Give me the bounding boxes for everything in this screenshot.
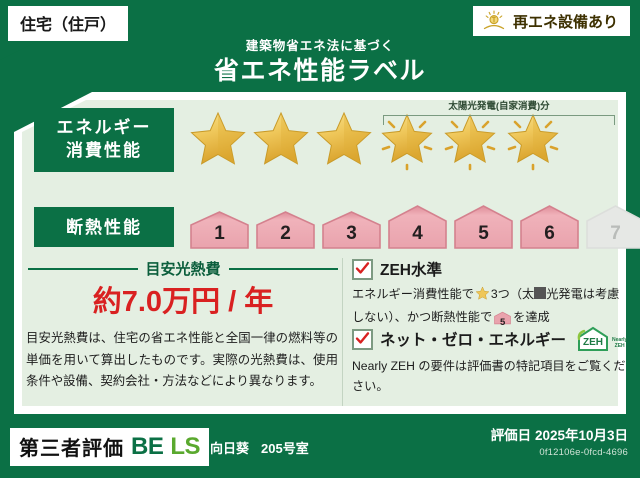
category-tag: 住宅（住戸） — [8, 6, 128, 41]
checkbox-checked-icon — [352, 259, 373, 280]
solar-bracket-line — [383, 115, 615, 125]
zeh-house-logo: ZEH Nearly ZEH — [576, 326, 627, 352]
net-zero-body: Nearly ZEH の要件は評価書の特記項目をご覧ください。 — [352, 357, 628, 397]
building-name: 向日葵 — [210, 438, 249, 457]
grade-number: 2 — [254, 223, 317, 245]
insulation-performance-label: 断熱性能 — [34, 207, 174, 247]
utility-cost-heading-text: 目安光熱費 — [146, 258, 221, 279]
star-icon — [314, 109, 374, 171]
zeh-standard-body: エネルギー消費性能で3つ（太光発電は考慮しない）、かつ断熱性能で5を達成 — [352, 285, 628, 332]
title-main: 省エネ性能ラベル — [0, 58, 640, 86]
grade-number: 5 — [452, 223, 515, 245]
grade-badge-2: 2 — [254, 211, 317, 249]
title-block: 建築物省エネ法に基づく 省エネ性能ラベル — [0, 40, 640, 85]
grade-badge-4: 4 — [386, 205, 449, 249]
bels-logo-box: 第三者評価 BELS — [10, 428, 209, 466]
zeh-body-part4: を達成 — [513, 310, 550, 324]
solar-bracket-label: 太陽光発電(自家消費)分 — [383, 102, 615, 112]
grade-number: 1 — [188, 223, 251, 245]
grade-badge-5: 5 — [452, 205, 515, 249]
grade-badge-7-inactive: 7 — [584, 205, 640, 249]
net-zero-heading: ネット・ゼロ・エネルギー ZEH Nearly ZEH — [352, 326, 628, 352]
rule-right — [229, 268, 339, 270]
insulation-performance-row: 断熱性能 1 2 3 4 5 6 7 — [34, 205, 640, 249]
bels-jp-label: 第三者評価 — [19, 432, 124, 461]
zeh-body-part1: エネルギー消費性能で — [352, 287, 474, 301]
energy-performance-label-line2: 消費性能 — [34, 140, 174, 163]
bels-logo-ls: LS — [170, 433, 200, 461]
grade-number: 3 — [320, 223, 383, 245]
utility-cost-note: 目安光熱費は、住宅の省エネ性能と全国一律の燃料等の単価を用いて算出したものです。… — [26, 328, 338, 393]
grade-badge-3: 3 — [320, 211, 383, 249]
grade-number: 4 — [386, 223, 449, 245]
column-divider — [342, 258, 343, 406]
insulation-label-text: 断熱性能 — [34, 219, 174, 236]
zeh-body-star-count: 3つ — [491, 287, 510, 301]
zeh-body-part2: （太 — [510, 287, 534, 301]
net-zero-title: ネット・ゼロ・エネルギー — [380, 328, 566, 350]
grade-badge-6: 6 — [518, 205, 581, 249]
evaluation-info: 評価日 2025年10月3日 0f12106e-0fcd-4696 — [491, 428, 628, 458]
grade-badge-1: 1 — [188, 211, 251, 249]
building-identity: 向日葵 205号室 — [210, 438, 309, 457]
rule-left — [28, 268, 138, 270]
evaluation-date: 評価日 2025年10月3日 — [491, 428, 628, 444]
energy-performance-label-line1: エネルギー — [34, 117, 174, 140]
utility-cost-heading: 目安光熱費 — [28, 258, 338, 279]
grade-number: 7 — [584, 223, 640, 245]
renewable-badge-label: 再エネ設備あり — [513, 11, 618, 32]
title-subtitle: 建築物省エネ法に基づく — [0, 40, 640, 53]
renewable-equipment-badge: 再エネ設備あり — [473, 6, 630, 36]
solar-generation-bracket: 太陽光発電(自家消費)分 — [383, 102, 615, 125]
inline-star-icon — [475, 286, 490, 308]
bels-logo-be: BE — [131, 433, 163, 461]
zeh-house-icon: ZEH — [576, 326, 610, 352]
star-icon — [188, 109, 248, 171]
zeh-standard-title: ZEH水準 — [380, 258, 442, 280]
zeh-standard-heading: ZEH水準 — [352, 258, 628, 280]
energy-performance-label: エネルギー 消費性能 — [34, 108, 174, 172]
zeh-standard-block: ZEH水準 エネルギー消費性能で3つ（太光発電は考慮しない）、かつ断熱性能で5を… — [352, 258, 628, 332]
svg-text:ZEH: ZEH — [583, 337, 603, 348]
insulation-grade-scale: 1 2 3 4 5 6 7 — [188, 205, 640, 249]
grade-number: 6 — [518, 223, 581, 245]
missing-glyph-block — [534, 287, 546, 299]
zeh-logo-sub: Nearly ZEH — [612, 338, 627, 352]
utility-cost-value: 約7.0万円 / 年 — [28, 278, 338, 320]
net-zero-energy-block: ネット・ゼロ・エネルギー ZEH Nearly ZEH Nearly ZEH の… — [352, 326, 628, 397]
room-number: 205号室 — [261, 438, 309, 457]
star-icon — [251, 109, 311, 171]
evaluation-id: 0f12106e-0fcd-4696 — [491, 447, 628, 458]
checkbox-checked-icon — [352, 329, 373, 350]
zeh-logo-sub2: ZEH — [615, 343, 625, 349]
sun-solar-icon — [481, 10, 507, 32]
